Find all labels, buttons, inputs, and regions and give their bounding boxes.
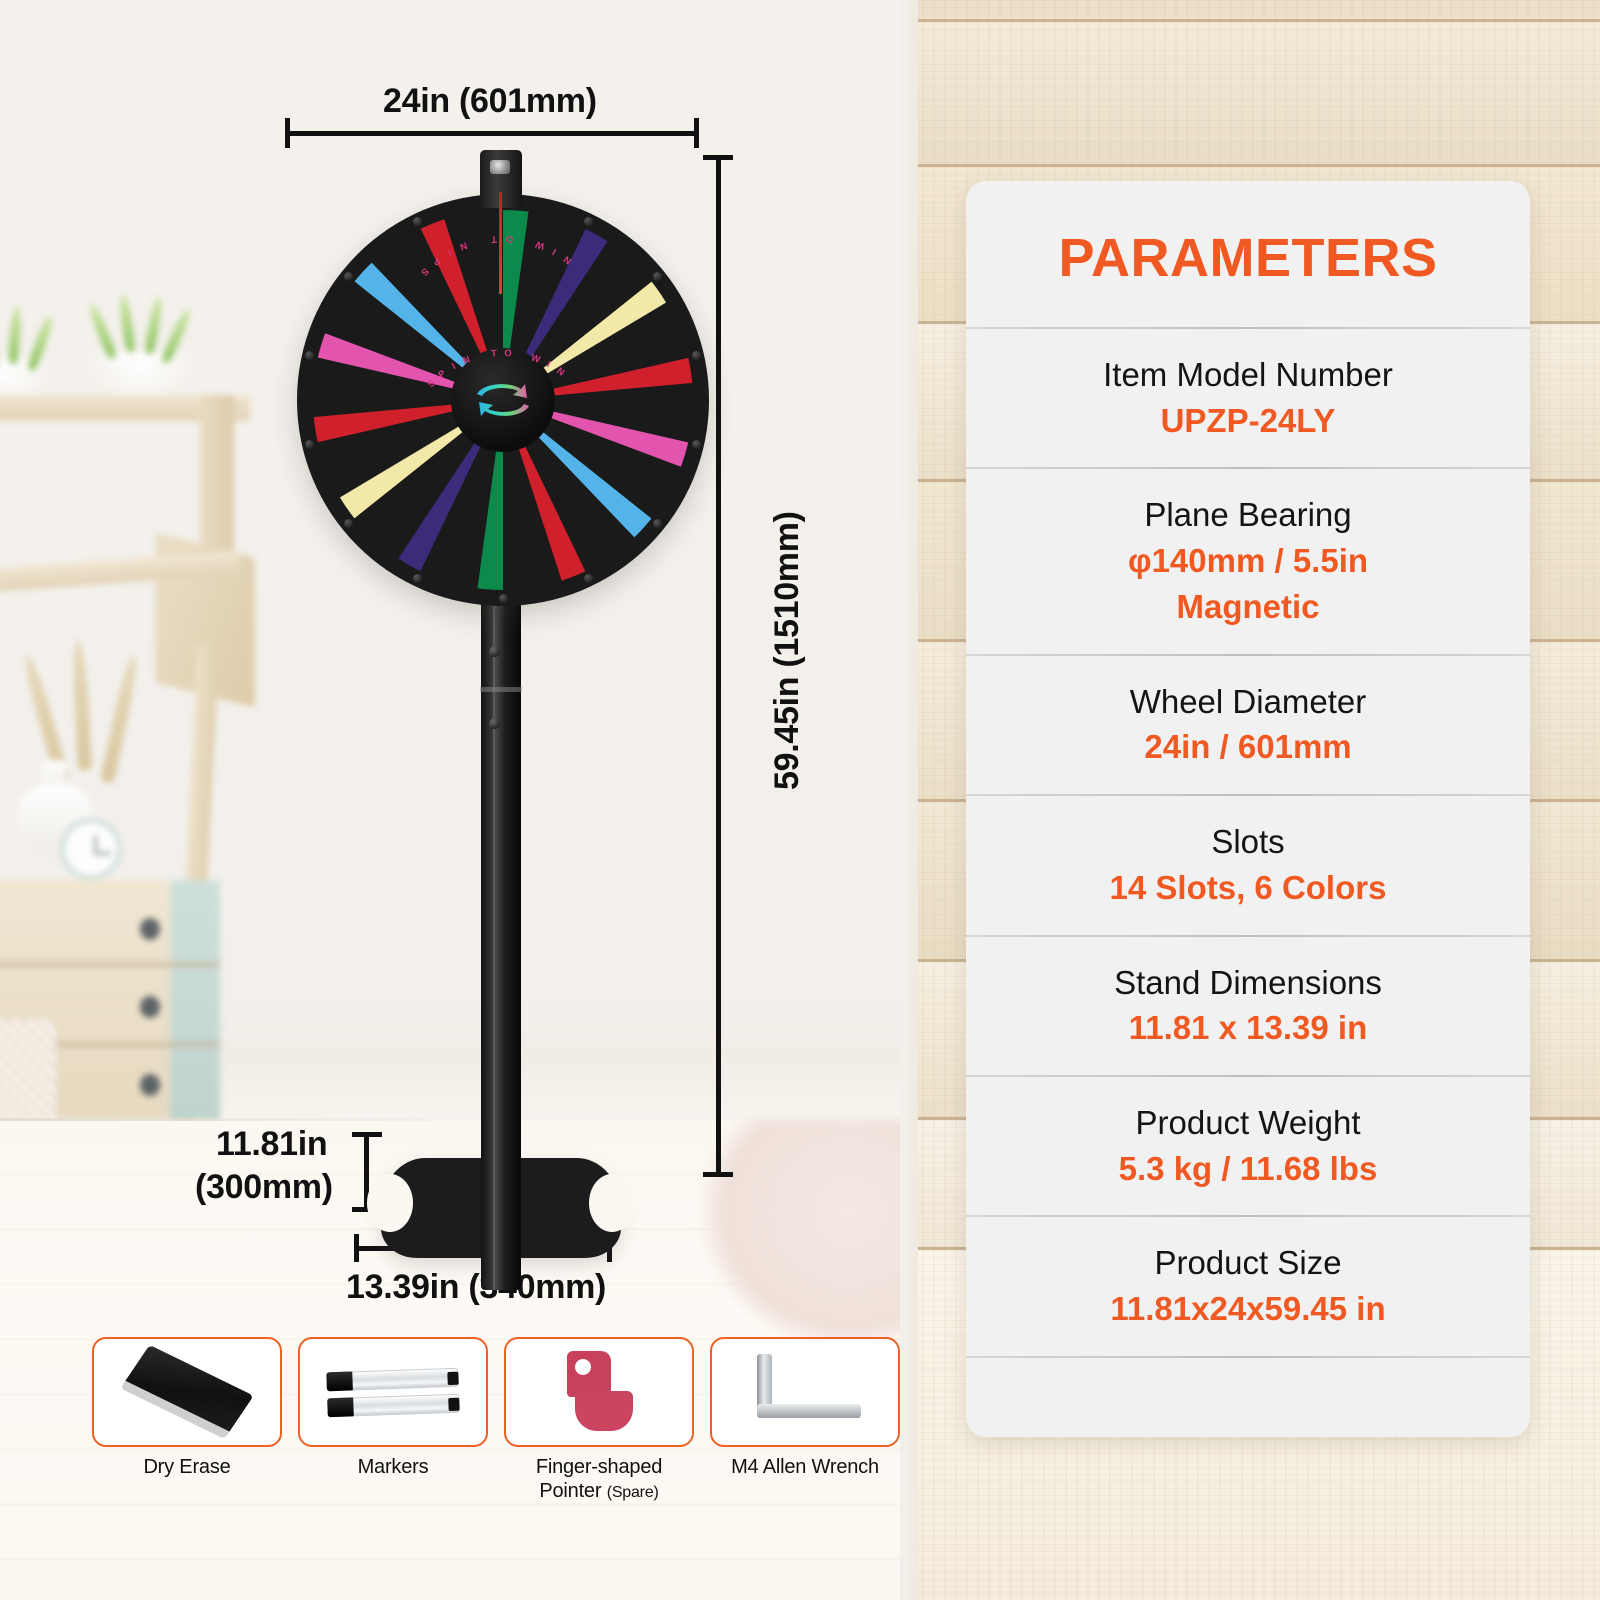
wood-plank — [900, 0, 1600, 22]
dim-cap-depth-top — [352, 1132, 382, 1137]
wall-left-edge — [900, 0, 918, 1600]
pampas-stem — [100, 653, 141, 783]
parameter-row: Slots14 Slots, 6 Colors — [966, 796, 1530, 934]
base-notch-right — [589, 1174, 635, 1232]
markers-icon — [326, 1367, 459, 1417]
parameter-row: Item Model NumberUPZP-24LY — [966, 329, 1530, 467]
hub-letter: T — [490, 233, 498, 245]
prize-wheel[interactable]: SPIN TO WIN SPIN TO WIN — [297, 194, 709, 606]
parameter-row: Product Weight5.3 kg / 11.68 lbs — [966, 1077, 1530, 1215]
parameter-value: UPZP-24LY — [984, 400, 1512, 442]
wheel-stand-pole — [481, 600, 521, 1290]
dim-line-wheel-width — [285, 131, 699, 136]
rim-bolt — [413, 574, 422, 583]
rim-bolt — [344, 272, 353, 281]
drawer-divider — [0, 962, 220, 967]
parameter-key: Product Weight — [984, 1103, 1512, 1144]
allen-wrench-icon — [747, 1354, 863, 1430]
hub-letter: O — [505, 233, 514, 244]
dim-line-total-height — [716, 155, 721, 1177]
rim-bolt — [344, 519, 353, 528]
table-clock — [60, 818, 122, 880]
rim-bolt — [692, 351, 701, 360]
base-notch-left — [367, 1174, 413, 1232]
eraser-icon — [120, 1345, 254, 1439]
pampas-stem — [71, 640, 92, 771]
parameters-rows: Item Model NumberUPZP-24LYPlane Bearingφ… — [966, 327, 1530, 1358]
parameter-key: Wheel Diameter — [984, 682, 1512, 723]
accessory-pointer[interactable]: Finger-shaped Pointer (Spare) — [504, 1337, 694, 1503]
parameter-key: Product Size — [984, 1243, 1512, 1284]
drawer-knob — [140, 1074, 160, 1096]
rim-bolt — [692, 440, 701, 449]
plant-leaf — [144, 296, 164, 355]
parameter-row: Stand Dimensions11.81 x 13.39 in — [966, 937, 1530, 1075]
dim-label-wheel-width: 24in (601mm) — [383, 82, 597, 121]
accessory-label-line2: Pointer — [539, 1480, 601, 1502]
parameter-key: Plane Bearing — [984, 495, 1512, 536]
accessory-image-box — [710, 1337, 900, 1447]
parameter-value: 11.81x24x59.45 in — [984, 1288, 1512, 1330]
accessory-image-box — [504, 1337, 694, 1447]
accessory-allen-wrench[interactable]: M4 Allen Wrench — [710, 1337, 900, 1503]
parameter-row: Wheel Diameter24in / 601mm — [966, 656, 1530, 794]
plant-leaf — [118, 294, 136, 353]
plant-leaf — [8, 306, 22, 365]
dim-cap-top — [703, 155, 733, 160]
rim-bolt — [584, 574, 593, 583]
rim-bolt — [305, 440, 314, 449]
accessories-row: Dry Erase Markers Finger-shaped Pointer … — [92, 1337, 900, 1503]
parameter-key: Stand Dimensions — [984, 963, 1512, 1004]
accessory-dry-erase[interactable]: Dry Erase — [92, 1337, 282, 1503]
dim-cap-bw-left — [354, 1234, 359, 1262]
drawer-knob — [140, 996, 160, 1018]
accessory-label-note: (Spare) — [607, 1484, 659, 1501]
dim-label-base-width: 13.39in (340mm) — [346, 1268, 606, 1307]
accessory-label: Finger-shaped Pointer (Spare) — [504, 1456, 694, 1503]
cyclone-logo-icon — [469, 378, 537, 422]
parameter-row: Plane Bearingφ140mm / 5.5inMagnetic — [966, 469, 1530, 653]
wood-plank — [900, 22, 1600, 167]
accessory-label: Markers — [298, 1456, 488, 1480]
parameter-key: Slots — [984, 822, 1512, 863]
rim-bolt — [413, 217, 422, 226]
clamp-screw-icon — [490, 160, 510, 174]
pole-screw — [489, 718, 500, 729]
dim-label-base-depth-in: 11.81in — [216, 1125, 327, 1164]
drawer-knob — [140, 918, 160, 940]
pole-telescoping-joint — [480, 687, 522, 692]
parameter-value-secondary: Magnetic — [984, 586, 1512, 628]
accessory-label: Dry Erase — [92, 1456, 282, 1480]
wheel-hub: SPIN TO WIN SPIN TO WIN — [451, 348, 555, 452]
prize-wheel-assembly: SPIN TO WIN SPIN TO WIN — [281, 150, 721, 1260]
parameter-value: 24in / 601mm — [984, 726, 1512, 768]
parameter-key: Item Model Number — [984, 355, 1512, 396]
dim-label-total-height: 59.45in (1510mm) — [768, 511, 807, 790]
dim-cap-right — [694, 118, 699, 148]
parameter-value: 14 Slots, 6 Colors — [984, 867, 1512, 909]
accessory-label: M4 Allen Wrench — [710, 1456, 900, 1480]
parameters-panel: PARAMETERS Item Model NumberUPZP-24LYPla… — [966, 181, 1530, 1437]
pole-seam — [493, 600, 495, 1290]
parameter-row: Product Size11.81x24x59.45 in — [966, 1217, 1530, 1355]
parameter-value: 5.3 kg / 11.68 lbs — [984, 1148, 1512, 1190]
wheel-pointer-needle — [499, 192, 502, 294]
dresser-side-panel — [170, 880, 220, 1120]
rug — [700, 1120, 900, 1350]
panel-title: PARAMETERS — [966, 181, 1530, 327]
rim-bolt — [499, 594, 508, 603]
dim-cap-left — [285, 118, 290, 148]
rim-bolt — [305, 351, 314, 360]
accessory-label-line1: Finger-shaped — [536, 1456, 662, 1478]
pole-screw — [489, 646, 500, 657]
row-divider — [966, 1356, 1530, 1358]
accessory-image-box — [92, 1337, 282, 1447]
parameter-value: φ140mm / 5.5in — [984, 540, 1512, 582]
accessory-image-box — [298, 1337, 488, 1447]
accessory-markers[interactable]: Markers — [298, 1337, 488, 1503]
infographic-canvas: SPIN TO WIN SPIN TO WIN — [0, 0, 1600, 1600]
dim-cap-bottom — [703, 1172, 733, 1177]
parameter-value: 11.81 x 13.39 in — [984, 1007, 1512, 1049]
dim-label-base-depth-mm: (300mm) — [195, 1168, 333, 1207]
pointer-icon — [563, 1351, 635, 1433]
